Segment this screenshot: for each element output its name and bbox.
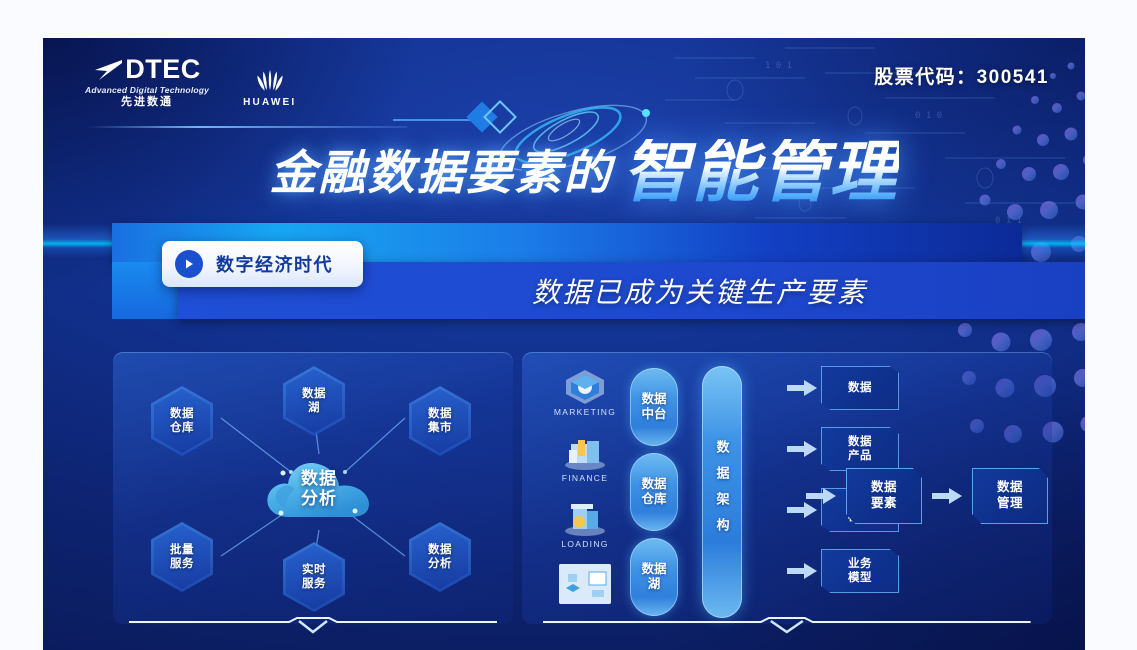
logo-group: DTEC Advanced Digital Technology 先进数通 HU… — [85, 56, 296, 108]
tail-data-management[interactable]: 数据管理 — [972, 468, 1048, 524]
center-cloud-label: 数据分析 — [259, 469, 379, 510]
tail-label: 数据要素 — [871, 480, 897, 511]
output-data[interactable]: 数据 — [821, 366, 899, 410]
node-data-mart[interactable]: 数据集市 — [409, 386, 471, 456]
slide-canvas: 1 0 10 1 0 1 1 00 1 1 — [43, 38, 1085, 650]
huawei-wordmark: HUAWEI — [243, 97, 296, 108]
node-data-lake[interactable]: 数据湖 — [283, 366, 345, 436]
panel-bottom-chevron — [129, 616, 497, 638]
panel-data-analysis: 数据仓库 数据湖 数据集市 批量服务 — [113, 352, 513, 624]
node-label: 数据集市 — [428, 407, 452, 436]
node-batch-service[interactable]: 批量服务 — [151, 522, 213, 592]
node-realtime-service[interactable]: 实时服务 — [283, 542, 345, 612]
section-tag-pill[interactable]: 数字经济时代 — [162, 241, 363, 287]
section-band: 数字经济时代 数据已成为关键生产要素 — [112, 223, 1052, 348]
platform-data-midend[interactable]: 数据中台 — [630, 368, 678, 446]
platform-data-lake[interactable]: 数据湖 — [630, 538, 678, 616]
platform-data-warehouse[interactable]: 数据仓库 — [630, 453, 678, 531]
svg-text:0 1 0: 0 1 0 — [915, 111, 942, 121]
output-label: 数据产品 — [848, 435, 872, 464]
stock-code-label: 股票代码：300541 — [874, 62, 1049, 89]
platform-label: 数据仓库 — [641, 477, 666, 507]
section-tag-label: 数字经济时代 — [216, 251, 333, 277]
title-primary: 金融数据要素的 — [270, 149, 613, 196]
right-arrow-icon — [787, 441, 817, 457]
center-cloud[interactable]: 数据分析 — [259, 447, 379, 533]
right-arrow-icon — [787, 380, 817, 396]
dtec-chinese-name: 先进数通 — [121, 97, 173, 108]
dtec-tagline: Advanced Digital Technology — [85, 86, 209, 95]
right-arrow-icon — [787, 563, 817, 579]
header-divider — [87, 126, 407, 128]
platform-label: 数据中台 — [641, 392, 666, 422]
right-arrow-icon — [806, 488, 836, 504]
node-label: 数据湖 — [302, 387, 326, 416]
source-caption: FINANCE — [562, 473, 608, 483]
source-caption: LOADING — [561, 539, 608, 549]
source-caption: MARKETING — [554, 407, 616, 417]
platform-pill-column: 数据中台 数据仓库 数据湖 — [630, 368, 678, 623]
source-item-marketing[interactable]: MARKETING — [546, 366, 624, 428]
play-circle-icon — [175, 250, 203, 278]
platform-label: 数据湖 — [641, 562, 666, 592]
dtec-wordmark: DTEC — [125, 56, 201, 83]
source-icon-column: MARKETING FINANCE — [546, 366, 624, 630]
architecture-column[interactable]: 数据架构 — [702, 366, 742, 618]
panel-bottom-chevron — [543, 616, 1031, 638]
cube-marketing-icon — [559, 366, 611, 406]
tail-label: 数据管理 — [997, 480, 1023, 511]
tail-data-element[interactable]: 数据要素 — [846, 468, 922, 524]
source-item-loading[interactable]: LOADING — [546, 498, 624, 560]
svg-text:1 0 1: 1 0 1 — [765, 61, 792, 71]
main-title: 金融数据要素的 智能管理 — [43, 130, 1085, 214]
output-business-model[interactable]: 业务模型 — [821, 549, 899, 593]
screenshot-root: 1 0 10 1 0 1 1 00 1 1 — [0, 0, 1137, 650]
right-arrow-icon — [932, 488, 962, 504]
huawei-flower-icon — [250, 67, 290, 93]
output-data-product[interactable]: 数据产品 — [821, 427, 899, 471]
node-label: 批量服务 — [170, 543, 194, 572]
source-item-finance[interactable]: FINANCE — [546, 432, 624, 494]
node-label: 数据分析 — [428, 543, 452, 572]
dtec-arrow-icon — [93, 59, 123, 81]
node-label: 实时服务 — [302, 563, 326, 592]
node-label: 数据仓库 — [170, 407, 194, 436]
huawei-logo: HUAWEI — [243, 67, 296, 108]
output-label: 业务模型 — [848, 557, 872, 586]
node-data-analysis[interactable]: 数据分析 — [409, 522, 471, 592]
title-accent: 智能管理 — [623, 139, 899, 206]
node-data-warehouse[interactable]: 数据仓库 — [151, 386, 213, 456]
server-finance-icon — [559, 432, 611, 472]
dtec-logo: DTEC Advanced Digital Technology 先进数通 — [85, 56, 209, 108]
loading-data-icon — [559, 498, 611, 538]
architecture-label: 数据架构 — [713, 440, 732, 544]
output-label: 数据 — [848, 381, 872, 395]
section-headline: 数据已成为关键生产要素 — [532, 271, 868, 311]
dashboard-thumb-icon — [559, 564, 611, 604]
tail-chain: 数据要素 数据管理 — [806, 468, 1048, 524]
